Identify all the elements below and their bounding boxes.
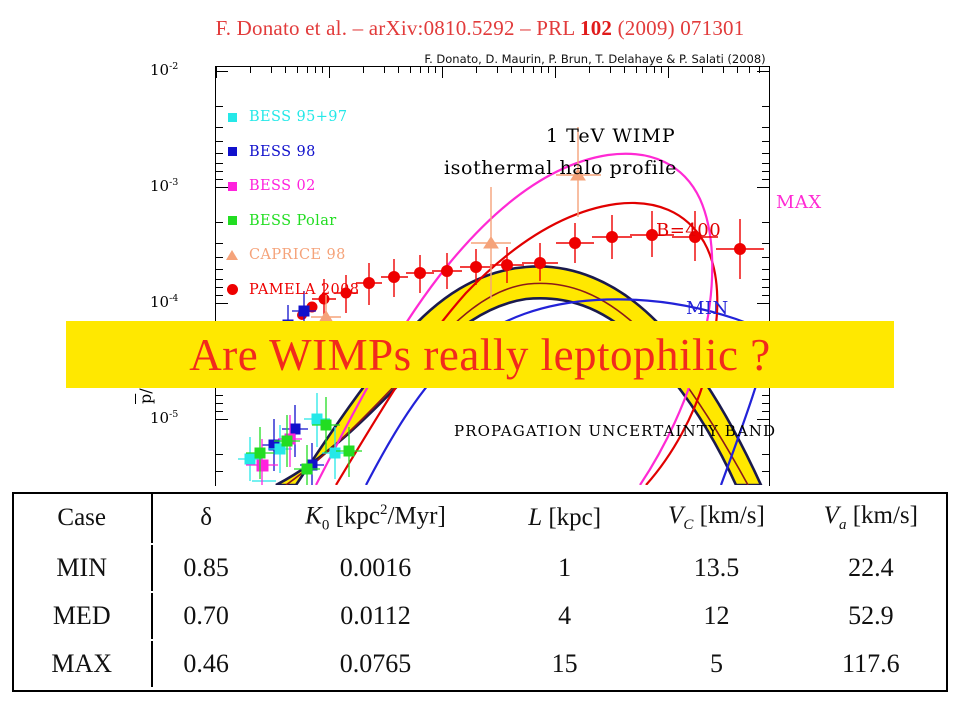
cell-delta: 0.85 [151,544,261,592]
slide-title-post: (2009) 071301 [612,16,744,40]
legend-item-caprice-98: CAPRICE 98 [226,238,359,273]
square-marker-icon [226,113,238,122]
cell-va: 117.6 [794,640,948,688]
banner-text: Are WIMPs really leptophilic ? [189,329,771,381]
slide-title-pre: F. Donato et al. – arXiv:0810.5292 – PRL [216,16,580,40]
table-row-min: MIN 0.85 0.0016 1 13.5 22.4 [12,544,948,592]
legend-item-bess-98: BESS 98 [226,135,359,170]
cell-k0: 0.0112 [261,592,490,640]
annotation-wimp-mass: 1 TeV WIMP [546,125,676,147]
slide-title-volume: 102 [580,16,612,40]
highlight-banner: Are WIMPs really leptophilic ? [66,321,894,388]
cell-k0: 0.0765 [261,640,490,688]
legend-label: BESS 95+97 [249,109,348,125]
cell-case: MED [12,592,151,640]
header-l: L [kpc] [490,492,639,544]
cell-delta: 0.46 [151,640,261,688]
cell-l: 4 [490,592,639,640]
square-marker-icon [226,182,238,191]
cell-va: 52.9 [794,592,948,640]
legend-label: BESS 98 [249,144,316,160]
antiproton-flux-figure: F. Donato, D. Maurin, P. Brun, T. Delaha… [130,52,830,492]
cell-case: MIN [12,544,151,592]
cell-l: 1 [490,544,639,592]
legend-item-pamela-2008: PAMELA 2008 [226,273,359,308]
header-delta: δ [151,492,261,544]
cell-vc: 5 [639,640,793,688]
header-k0: K0 [kpc2/Myr] [261,492,490,544]
annotation-b400: B=400 [656,220,721,241]
slide-title: F. Donato et al. – arXiv:0810.5292 – PRL… [0,16,960,41]
y-axis-label: p/ [136,388,155,404]
legend-item-bess-95-97: BESS 95+97 [226,100,359,135]
legend-label: CAPRICE 98 [249,247,346,263]
square-marker-icon [226,147,238,156]
header-vc: VC [km/s] [639,492,793,544]
annotation-min-curve: MIN [686,298,729,319]
table-row-med: MED 0.70 0.0112 4 12 52.9 [12,592,948,640]
header-va: Va [km/s] [794,492,948,544]
legend-item-bess-polar: BESS Polar [226,204,359,239]
triangle-marker-icon [226,250,238,260]
circle-marker-icon [226,284,238,295]
annotation-max-curve: MAX [776,192,822,213]
legend-item-bess-02: BESS 02 [226,169,359,204]
square-marker-icon [226,216,238,225]
table-header-row: Case δ K0 [kpc2/Myr] L [kpc] VC [km/s] V… [12,492,948,544]
legend-label: BESS 02 [249,178,316,194]
cell-va: 22.4 [794,544,948,592]
legend-label: BESS Polar [249,213,337,229]
plot-legend: BESS 95+97 BESS 98 BESS 02 BESS Polar CA… [226,100,359,307]
annotation-halo-profile: isothermal halo profile [444,157,677,179]
cell-vc: 13.5 [639,544,793,592]
table-row-max: MAX 0.46 0.0765 15 5 117.6 [12,640,948,688]
annotation-propagation-band: PROPAGATION UNCERTAINTY BAND [454,422,776,440]
cell-vc: 12 [639,592,793,640]
legend-label: PAMELA 2008 [249,282,359,298]
propagation-parameter-table: Case δ K0 [kpc2/Myr] L [kpc] VC [km/s] V… [12,492,948,688]
cell-l: 15 [490,640,639,688]
header-case: Case [12,492,151,544]
cell-case: MAX [12,640,151,688]
cell-delta: 0.70 [151,592,261,640]
cell-k0: 0.0016 [261,544,490,592]
